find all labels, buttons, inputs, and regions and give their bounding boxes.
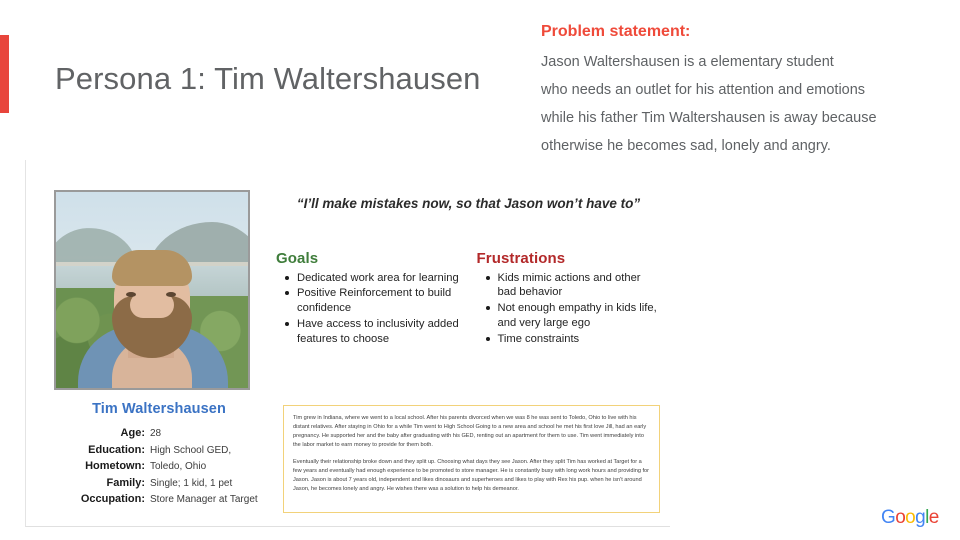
persona-facts-list: Age: 28 Education: High School GED, Home… xyxy=(54,426,264,508)
problem-statement-line: otherwise he becomes sad, lonely and ang… xyxy=(541,133,941,161)
persona-fact-row: Hometown: Toledo, Ohio xyxy=(54,459,264,475)
persona-fact-row: Occupation: Store Manager at Target xyxy=(54,492,264,508)
persona-fact-value: Single; 1 kid, 1 pet xyxy=(150,476,232,492)
list-item: Dedicated work area for learning xyxy=(297,271,461,286)
persona-fact-value: 28 xyxy=(150,426,161,442)
problem-statement-heading: Problem statement: xyxy=(541,22,941,41)
list-item: Positive Reinforcement to build confiden… xyxy=(297,286,461,316)
list-item: Kids mimic actions and other bad behavio… xyxy=(498,271,662,301)
list-item: Time constraints xyxy=(498,332,662,347)
frustrations-column: Frustrations Kids mimic actions and othe… xyxy=(461,250,662,348)
persona-name: Tim Waltershausen xyxy=(54,401,264,417)
list-item: Not enough empathy in kids life, and ver… xyxy=(498,301,662,331)
avatar xyxy=(54,190,250,390)
slide-accent-bar xyxy=(0,35,9,113)
goals-heading: Goals xyxy=(276,250,461,267)
persona-quote: “I’ll make mistakes now, so that Jason w… xyxy=(289,194,649,214)
google-logo: Google xyxy=(881,507,939,529)
frustrations-heading: Frustrations xyxy=(477,250,662,267)
frustrations-list: Kids mimic actions and other bad behavio… xyxy=(477,271,662,347)
page-title: Persona 1: Tim Waltershausen xyxy=(55,60,525,97)
persona-profile-column: Tim Waltershausen Age: 28 Education: Hig… xyxy=(54,190,264,509)
problem-statement-block: Problem statement: Jason Waltershausen i… xyxy=(541,22,941,161)
persona-fact-value: Toledo, Ohio xyxy=(150,459,206,475)
goals-list: Dedicated work area for learning Positiv… xyxy=(276,271,461,347)
photo-subject-eye-right xyxy=(166,292,176,297)
persona-fact-label: Family: xyxy=(54,476,150,492)
persona-bio-paragraph: Eventually their relationship broke down… xyxy=(293,458,650,494)
persona-fact-label: Age: xyxy=(54,426,150,442)
persona-fact-label: Occupation: xyxy=(54,492,150,508)
google-logo-letter: o xyxy=(905,507,915,528)
persona-fact-row: Education: High School GED, xyxy=(54,443,264,459)
persona-bio-paragraph: Tim grew in Indiana, where we went to a … xyxy=(293,414,650,450)
problem-statement-line: while his father Tim Waltershausen is aw… xyxy=(541,105,941,133)
persona-fact-row: Family: Single; 1 kid, 1 pet xyxy=(54,476,264,492)
list-item: Have access to inclusivity added feature… xyxy=(297,317,461,347)
persona-bio-box: Tim grew in Indiana, where we went to a … xyxy=(283,405,660,513)
goals-frustrations-wrapper: Goals Dedicated work area for learning P… xyxy=(276,250,661,348)
google-logo-letter: e xyxy=(929,507,939,528)
persona-fact-label: Hometown: xyxy=(54,459,150,475)
google-logo-letter: g xyxy=(915,507,925,528)
problem-statement-body: Jason Waltershausen is a elementary stud… xyxy=(541,49,941,161)
persona-details-column: “I’ll make mistakes now, so that Jason w… xyxy=(276,194,661,348)
persona-fact-label: Education: xyxy=(54,443,150,459)
problem-statement-line: Jason Waltershausen is a elementary stud… xyxy=(541,49,941,77)
persona-fact-value: High School GED, xyxy=(150,443,231,459)
persona-card: Tim Waltershausen Age: 28 Education: Hig… xyxy=(25,160,670,527)
goals-column: Goals Dedicated work area for learning P… xyxy=(276,250,461,348)
photo-subject-eye-left xyxy=(126,292,136,297)
photo-subject-hair xyxy=(112,250,192,286)
persona-fact-value: Store Manager at Target xyxy=(150,492,258,508)
google-logo-letter: G xyxy=(881,507,895,528)
persona-fact-row: Age: 28 xyxy=(54,426,264,442)
google-logo-letter: o xyxy=(895,507,905,528)
problem-statement-line: who needs an outlet for his attention an… xyxy=(541,77,941,105)
